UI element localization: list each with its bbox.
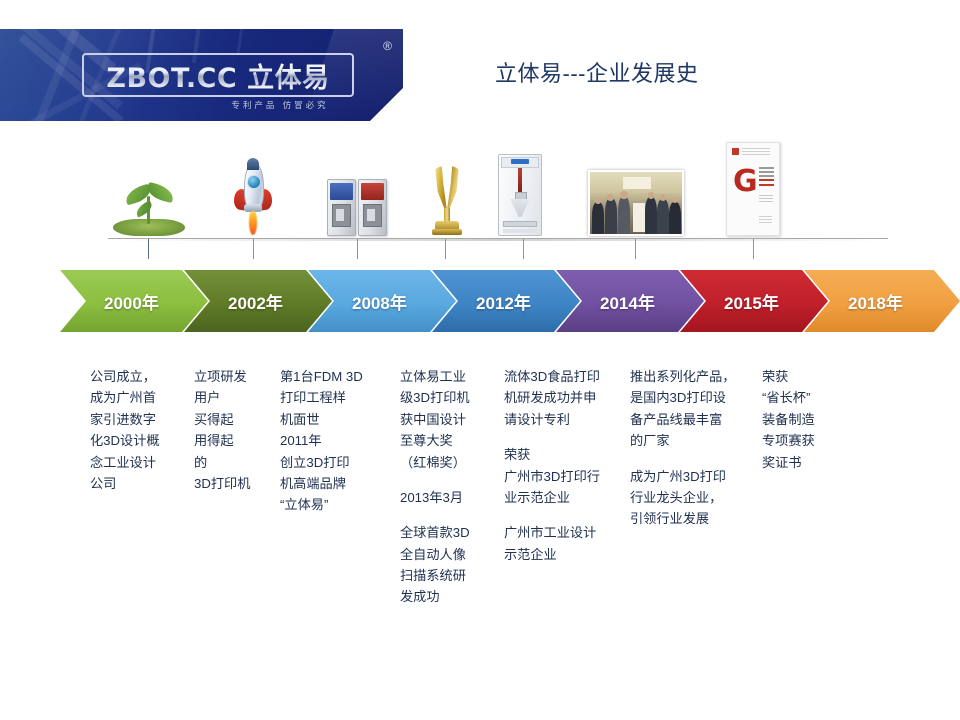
icon-cell-2018: G: [726, 142, 780, 236]
registered-trademark-icon: ®: [383, 39, 392, 53]
slide-root: ZBOT.CC 立体易 ® 专利产品 仿冒必究 立体易---企业发展史: [0, 0, 960, 720]
timeline-chevrons: 2000年 2002年 2008年 2012年 2014年 2015年 2018…: [60, 270, 900, 332]
icon-cell-2000: [112, 178, 186, 236]
printer-pair-icon: [327, 174, 389, 236]
axis-tick-2014: [523, 239, 524, 259]
logo-wordmark-box: ZBOT.CC 立体易: [82, 53, 354, 97]
logo-wordmark: ZBOT.CC 立体易: [106, 56, 329, 95]
icon-cell-2014: [496, 154, 544, 236]
icon-cell-2015: [588, 170, 684, 236]
description-paragraph: 广州市工业设计 示范企业: [504, 522, 624, 565]
chevron-label: 2018年: [848, 289, 903, 314]
milestone-icon-row: G: [0, 132, 960, 236]
axis-tick-2012: [445, 239, 446, 259]
description-paragraph: 公司成立， 成为广州首 家引进数字 化3D设计概 念工业设计 公司: [90, 366, 190, 494]
description-column-2015: 推出系列化产品， 是国内3D打印设 备产品线最丰富 的厂家 成为广州3D打印 行…: [630, 366, 754, 530]
icon-cell-2002: [222, 158, 284, 236]
timeline-axis: [108, 238, 888, 239]
icon-cell-2012: [428, 166, 466, 236]
description-column-2018: 荣获 “省长杯” 装备制造 专项赛获 奖证书: [762, 366, 862, 473]
milestone-descriptions: 公司成立， 成为广州首 家引进数字 化3D设计概 念工业设计 公司 立项研发 用…: [0, 366, 960, 646]
description-column-2008: 第1台FDM 3D 打印工程样 机面世 2011年 创立3D打印 机高端品牌 “…: [280, 366, 392, 516]
description-paragraph: 荣获 “省长杯” 装备制造 专项赛获 奖证书: [762, 366, 862, 473]
blueprint-line: [236, 29, 246, 55]
trophy-icon: [430, 166, 464, 236]
logo-tagline: 专利产品 仿冒必究: [200, 99, 360, 111]
axis-tick-2018: [753, 239, 754, 259]
axis-tick-2000: [148, 239, 149, 259]
axis-tick-2015: [635, 239, 636, 259]
description-paragraph: 第1台FDM 3D 打印工程样 机面世 2011年 创立3D打印 机高端品牌 “…: [280, 366, 392, 516]
description-column-2014: 流体3D食品打印 机研发成功并申 请设计专利 荣获 广州市3D打印行 业示范企业…: [504, 366, 624, 565]
sprout-icon: [113, 178, 185, 236]
description-paragraph: 荣获 广州市3D打印行 业示范企业: [504, 444, 624, 508]
company-logo-banner: ZBOT.CC 立体易 ® 专利产品 仿冒必究: [0, 29, 403, 121]
chevron-label: 2014年: [600, 289, 655, 314]
timeline-chevron-2000[interactable]: 2000年: [60, 270, 208, 332]
chevron-label: 2012年: [476, 289, 531, 314]
chevron-label: 2000年: [104, 289, 159, 314]
description-paragraph: 推出系列化产品， 是国内3D打印设 备产品线最丰富 的厂家: [630, 366, 754, 452]
description-paragraph: 成为广州3D打印 行业龙头企业， 引领行业发展: [630, 466, 754, 530]
rocket-icon: [231, 158, 275, 236]
description-column-2002: 立项研发 用户 买得起 用得起 的 3D打印机: [194, 366, 272, 494]
description-paragraph: 流体3D食品打印 机研发成功并申 请设计专利: [504, 366, 624, 430]
icon-cell-2008: [326, 174, 390, 236]
description-column-2012: 立体易工业 级3D打印机 获中国设计 至尊大奖 （红棉奖） 2013年3月 全球…: [400, 366, 500, 608]
description-paragraph: 全球首款3D 全自动人像 扫描系统研 发成功: [400, 522, 500, 608]
axis-tick-2002: [253, 239, 254, 259]
description-paragraph: 立体易工业 级3D打印机 获中国设计 至尊大奖 （红棉奖）: [400, 366, 500, 473]
group-photo-icon: [588, 170, 684, 236]
description-paragraph: 立项研发 用户 买得起 用得起 的 3D打印机: [194, 366, 272, 494]
description-paragraph: 2013年3月: [400, 487, 500, 508]
chevron-label: 2015年: [724, 289, 779, 314]
certificate-icon: G: [726, 142, 780, 236]
tall-printer-icon: [498, 154, 542, 236]
chevron-label: 2008年: [352, 289, 407, 314]
page-title: 立体易---企业发展史: [495, 56, 698, 88]
chevron-label: 2002年: [228, 289, 283, 314]
banner-corner-notch: [369, 88, 403, 121]
description-column-2000: 公司成立， 成为广州首 家引进数字 化3D设计概 念工业设计 公司: [90, 366, 190, 494]
axis-tick-2008: [357, 239, 358, 259]
